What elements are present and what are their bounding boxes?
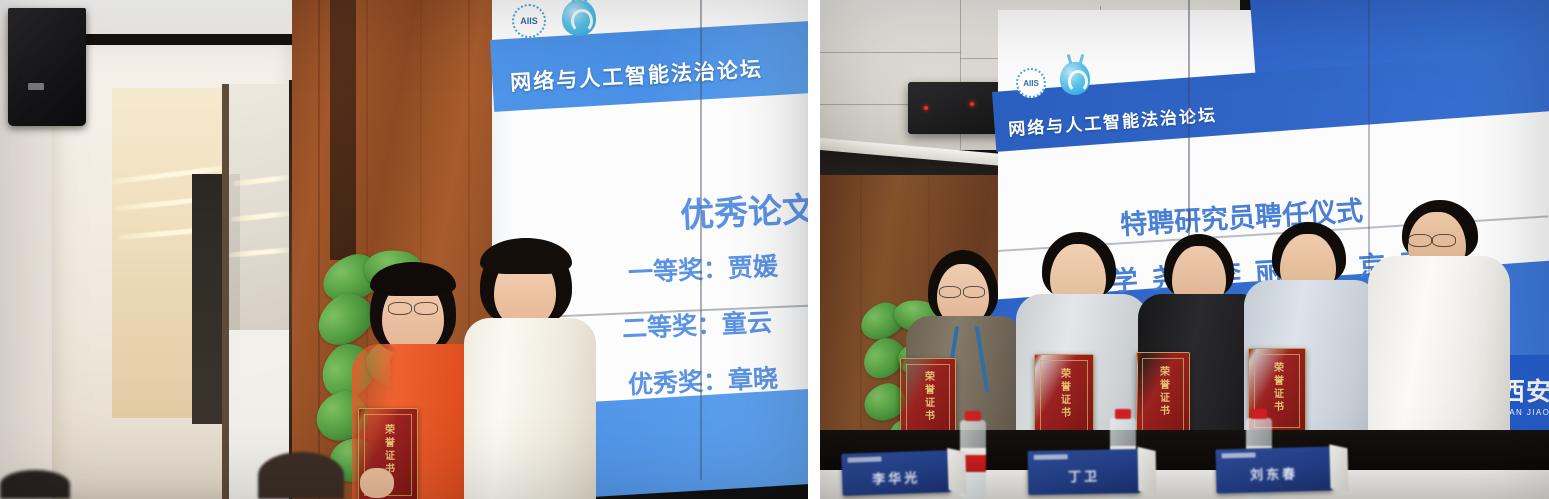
photo-pair-composite: AIIS 网络与人工智能法治论坛 优秀论文 一等奖：贾媛 二等奖：童云 优秀奖：…: [0, 0, 1549, 499]
certificate-folder: 荣誉证书: [900, 358, 956, 438]
aiis-logo: AIIS: [1016, 68, 1046, 98]
placard-fold: [1329, 444, 1348, 492]
name-placard-3: 刘东春: [1215, 446, 1332, 493]
name-placard-1: 李华光: [841, 450, 950, 496]
glasses-left-lens: [1408, 234, 1432, 247]
hand: [360, 468, 394, 498]
aiis-logo-label: AIIS: [520, 16, 538, 26]
glasses-left-lens: [388, 302, 412, 315]
audience-head-foreground: [258, 452, 344, 499]
placard-logo: [1034, 454, 1068, 460]
certificate-folder: 荣誉证书: [1034, 354, 1094, 438]
placard-logo: [847, 456, 881, 462]
wall-speaker: [8, 8, 86, 126]
certificate-cover-text: 荣誉证书: [921, 371, 936, 423]
white-blazer: [464, 318, 596, 499]
certificate-folder: 荣誉证书: [1136, 352, 1190, 438]
left-photo: AIIS 网络与人工智能法治论坛 优秀论文 一等奖：贾媛 二等奖：童云 优秀奖：…: [0, 0, 808, 499]
bottle-cap: [1115, 409, 1131, 419]
screen-seam-vertical: [700, 0, 702, 480]
certificate-cover-text: 荣誉证书: [1270, 362, 1285, 414]
placard-fold: [947, 448, 967, 494]
aiis-logo-label: AIIS: [1023, 79, 1039, 88]
slide-title-left: 优秀论文: [679, 182, 808, 237]
bottle-cap: [1251, 409, 1267, 419]
placard-logo: [1222, 452, 1256, 458]
bottle-cap: [965, 411, 981, 421]
certificate-cover-text: 荣誉证书: [1156, 366, 1171, 418]
photo-gutter: [808, 0, 820, 499]
aiis-logo: AIIS: [512, 4, 546, 38]
wall-dark-trim: [330, 0, 356, 260]
hair-fringe: [480, 238, 572, 274]
placard-name-text: 刘东春: [1216, 462, 1332, 484]
glasses-right-lens: [963, 286, 985, 298]
glasses-right-lens: [414, 302, 438, 315]
glasses-left-lens: [939, 286, 961, 298]
placard-name-text: 丁卫: [1028, 465, 1140, 486]
speaker-badge: [28, 83, 44, 90]
right-photo: AIIS 网络与人工智能法治论坛 特聘研究员聘任仪式 明 学尧 李丽敏 京春 西…: [820, 0, 1549, 499]
certificate-cover-text: 荣誉证书: [1057, 368, 1072, 420]
door-header-bar: [52, 34, 294, 45]
ai-robot-logo: [562, 0, 596, 36]
placard-fold: [1138, 447, 1157, 495]
name-placard-2: 丁卫: [1028, 449, 1141, 495]
award-line-first-prize: 一等奖：贾媛: [627, 247, 778, 290]
award-line-excellence: 优秀奖：章晓: [627, 359, 778, 402]
glasses-right-lens: [1432, 234, 1456, 247]
hair-fringe: [370, 262, 456, 296]
woman-white-blazer: [464, 238, 596, 499]
placard-name-text: 李华光: [842, 466, 951, 489]
audience-head-foreground-2: [0, 470, 70, 499]
ai-robot-logo: [1060, 62, 1090, 95]
